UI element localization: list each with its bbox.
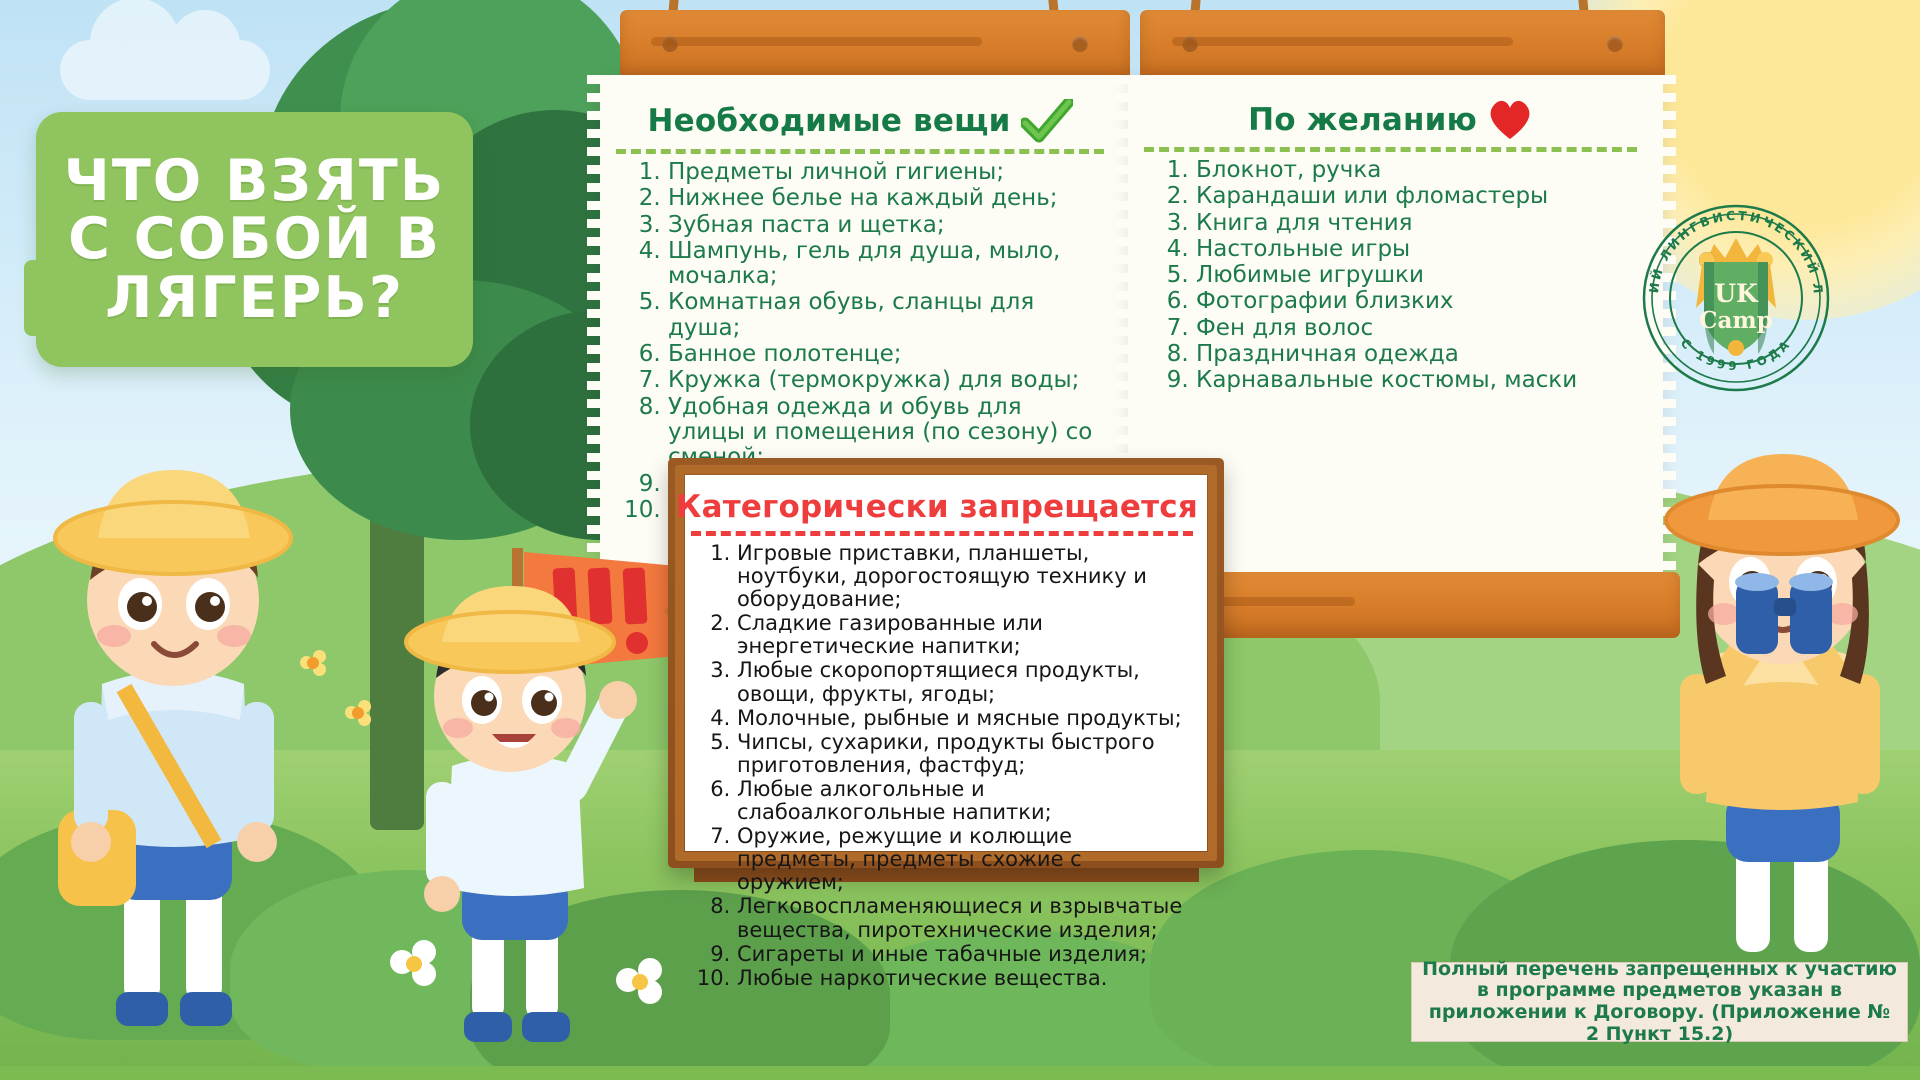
note-box: Полный перечень запрещенных к участию в … <box>1411 962 1908 1042</box>
sign-plank-top-left <box>620 10 1130 80</box>
panel-forbidden-frame: Категорически запрещается Игровые приста… <box>668 458 1224 868</box>
poster-title-card: ЧТО ВЗЯТЬ С СОБОЙ В ЛЯГЕРЬ? <box>36 112 473 367</box>
list-item: Любимые игрушки <box>1196 263 1637 288</box>
kid-left-illustration <box>28 452 328 1052</box>
list-item: Комнатная обувь, сланцы для душа; <box>668 290 1104 341</box>
list-item: Настольные игры <box>1196 237 1637 262</box>
list-item: Любые скоропортящиеся продукты, овощи, ф… <box>737 659 1193 705</box>
panel-forbidden-divider <box>691 531 1193 536</box>
panel-forbidden-title-row: Категорически запрещается <box>691 489 1193 525</box>
list-item: Нижнее белье на каждый день; <box>668 186 1104 211</box>
panel-optional-list: Блокнот, ручкаКарандаши или фломастерыКн… <box>1144 158 1637 394</box>
panel-forbidden-list: Игровые приставки, планшеты, ноутбуки, д… <box>691 542 1193 990</box>
poster-title-line2: С СОБОЙ В <box>68 206 441 272</box>
panel-necessary-title: Необходимые вещи <box>648 103 1011 139</box>
panel-optional-title: По желанию <box>1248 102 1477 138</box>
list-item: Блокнот, ручка <box>1196 158 1637 183</box>
list-item: Любые алкогольные и слабоалкогольные нап… <box>737 778 1193 824</box>
logo-name-line1: UK <box>1714 279 1759 308</box>
panel-optional-divider <box>1144 147 1637 152</box>
poster-title: ЧТО ВЗЯТЬ С СОБОЙ В ЛЯГЕРЬ? <box>64 152 445 326</box>
list-item: Карандаши или фломастеры <box>1196 184 1637 209</box>
list-item: Праздничная одежда <box>1196 342 1637 367</box>
list-item: Карнавальные костюмы, маски <box>1196 368 1637 393</box>
list-item: Шампунь, гель для душа, мыло, мочалка; <box>668 239 1104 290</box>
list-item: Оружие, режущие и колющие предметы, пред… <box>737 825 1193 894</box>
panel-optional-title-row: По желанию <box>1144 99 1637 141</box>
list-item: Сигареты и иные табачные изделия; <box>737 943 1193 966</box>
kid-center-illustration <box>376 580 666 1060</box>
green-check-icon <box>1021 99 1073 143</box>
list-item: Предметы личной гигиены; <box>668 160 1104 185</box>
poster-scene: Необходимые вещи Предметы личной гигиены… <box>0 0 1920 1080</box>
logo-name-line2: Camp <box>1699 307 1773 334</box>
list-item: Чипсы, сухарики, продукты быстрого приго… <box>737 731 1193 777</box>
flower-icon <box>345 700 371 726</box>
list-item: Книга для чтения <box>1196 211 1637 236</box>
panel-necessary-title-row: Необходимые вещи <box>616 99 1104 143</box>
list-item: Кружка (термокружка) для воды; <box>668 368 1104 393</box>
list-item: Любые наркотические вещества. <box>737 967 1193 990</box>
list-item: Фотографии близких <box>1196 289 1637 314</box>
list-item: Банное полотенце; <box>668 342 1104 367</box>
sign-plank-top-right <box>1140 10 1665 80</box>
list-item: Сладкие газированные или энергетические … <box>737 612 1193 658</box>
kid-right-illustration <box>1640 440 1920 1000</box>
note-text: Полный перечень запрещенных к участию в … <box>1422 959 1897 1046</box>
poster-title-line3: ЛЯГЕРЬ? <box>105 265 404 331</box>
panel-forbidden-title: Категорически запрещается <box>676 489 1198 525</box>
panel-necessary-divider <box>616 149 1104 154</box>
list-item: Фен для волос <box>1196 316 1637 341</box>
panel-forbidden: Категорически запрещается Игровые приста… <box>685 475 1207 851</box>
red-heart-icon <box>1487 99 1533 141</box>
list-item: Зубная паста и щетка; <box>668 213 1104 238</box>
camp-logo-stamp: ДЕТСКИЙ ЛИНГВИСТИЧЕСКИЙ ЛАГЕРЬ С 1999 ГО… <box>1636 198 1836 398</box>
list-item: Молочные, рыбные и мясные продукты; <box>737 707 1193 730</box>
footer-strip <box>0 1066 1920 1080</box>
poster-title-line1: ЧТО ВЗЯТЬ <box>64 148 445 214</box>
list-item: Игровые приставки, планшеты, ноутбуки, д… <box>737 542 1193 611</box>
list-item: Легковоспламеняющиеся и взрывчатые вещес… <box>737 895 1193 941</box>
